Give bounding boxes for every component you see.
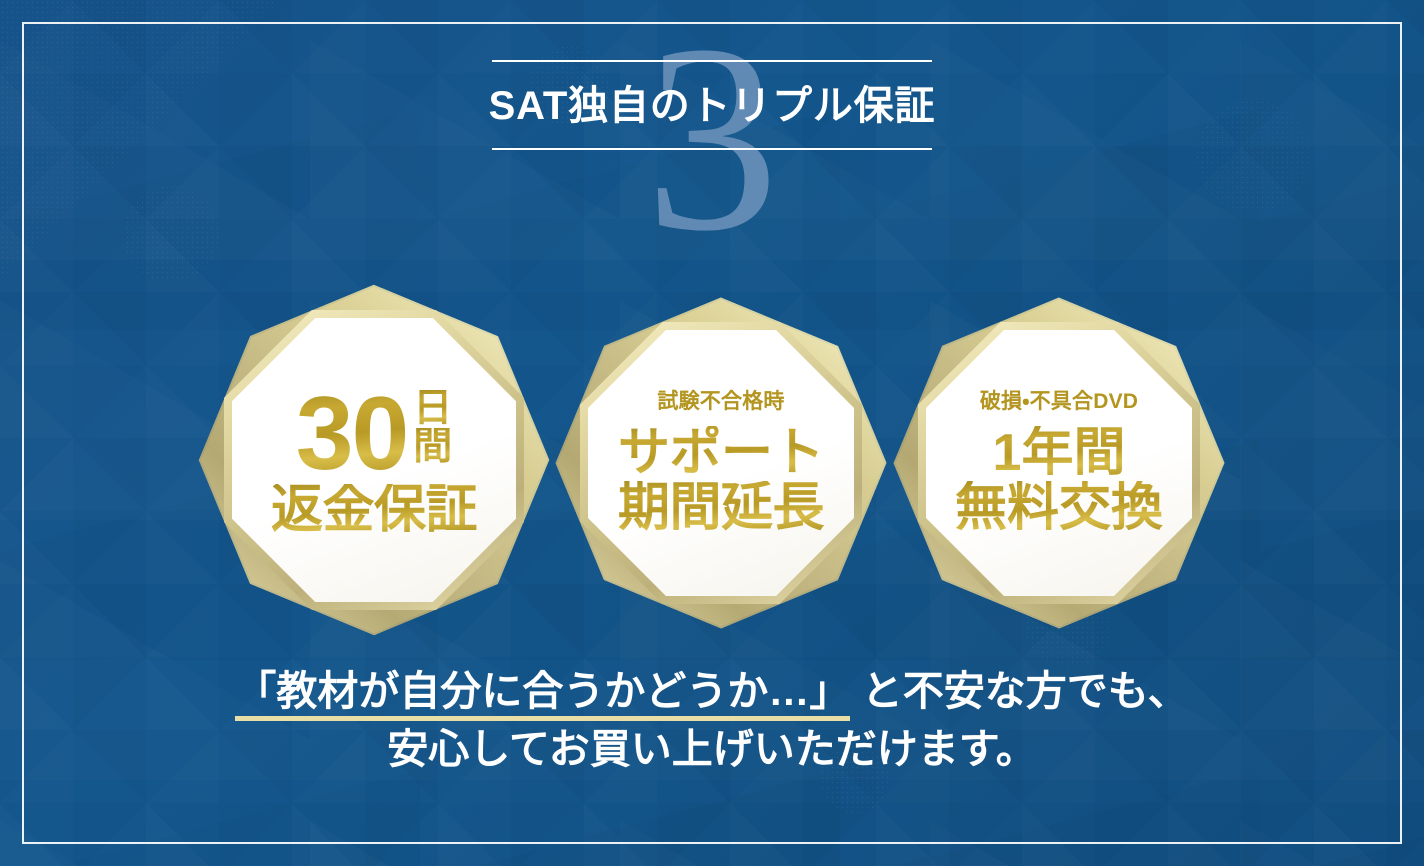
badge-main-text: 返金保証	[271, 484, 477, 536]
decorative-number-3: 3	[0, 4, 1424, 272]
footer-line-1: 「教材が自分に合うかどうか…」 と不安な方でも、	[0, 662, 1424, 720]
badge-top-label: 破損・不具合DVD	[980, 391, 1138, 412]
badge-free-dvd-exchange: 破損・不具合DVD 1年間 無料交換	[904, 308, 1214, 618]
badge-unit-line2: 間	[413, 428, 452, 466]
badge-unit-stack: 日 間	[413, 390, 452, 466]
badge-main-line2: 無料交換	[955, 481, 1163, 535]
footer-copy: 「教材が自分に合うかどうか…」 と不安な方でも、 安心してお買い上げいただけます…	[0, 662, 1424, 778]
page-title: SAT独自のトリプル保証	[0, 84, 1424, 128]
badge-refund-guarantee: 30 日 間 返金保証	[210, 296, 538, 624]
badge-number: 30	[296, 388, 408, 482]
badge-content: 試験不合格時 サポート 期間延長	[566, 308, 876, 618]
footer-line-2: 安心してお買い上げいただけます。	[0, 720, 1424, 778]
header-rule-top	[492, 60, 932, 62]
guarantee-banner: 3 SAT独自のトリプル保証 30 日 間 返金保証	[0, 0, 1424, 866]
badge-top-label: 試験不合格時	[657, 391, 784, 412]
badge-main-line1: サポート	[618, 426, 824, 480]
badge-support-extension: 試験不合格時 サポート 期間延長	[566, 308, 876, 618]
badge-content: 30 日 間 返金保証	[210, 296, 538, 624]
badge-main-line1: 1年間	[993, 426, 1126, 480]
badge-number-row: 30 日 間	[296, 388, 453, 482]
footer-line-1-rest: と不安な方でも、	[850, 668, 1188, 714]
header: 3 SAT独自のトリプル保証	[0, 60, 1424, 150]
badge-content: 破損・不具合DVD 1年間 無料交換	[904, 308, 1214, 618]
badge-main-line2: 期間延長	[618, 481, 824, 535]
header-rule-bottom	[492, 148, 932, 150]
badge-unit-line1: 日	[413, 390, 452, 428]
badge-row: 30 日 間 返金保証 試験不合格時 サポート 期間延長	[0, 296, 1424, 636]
footer-quote: 「教材が自分に合うかどうか…」	[235, 668, 850, 721]
